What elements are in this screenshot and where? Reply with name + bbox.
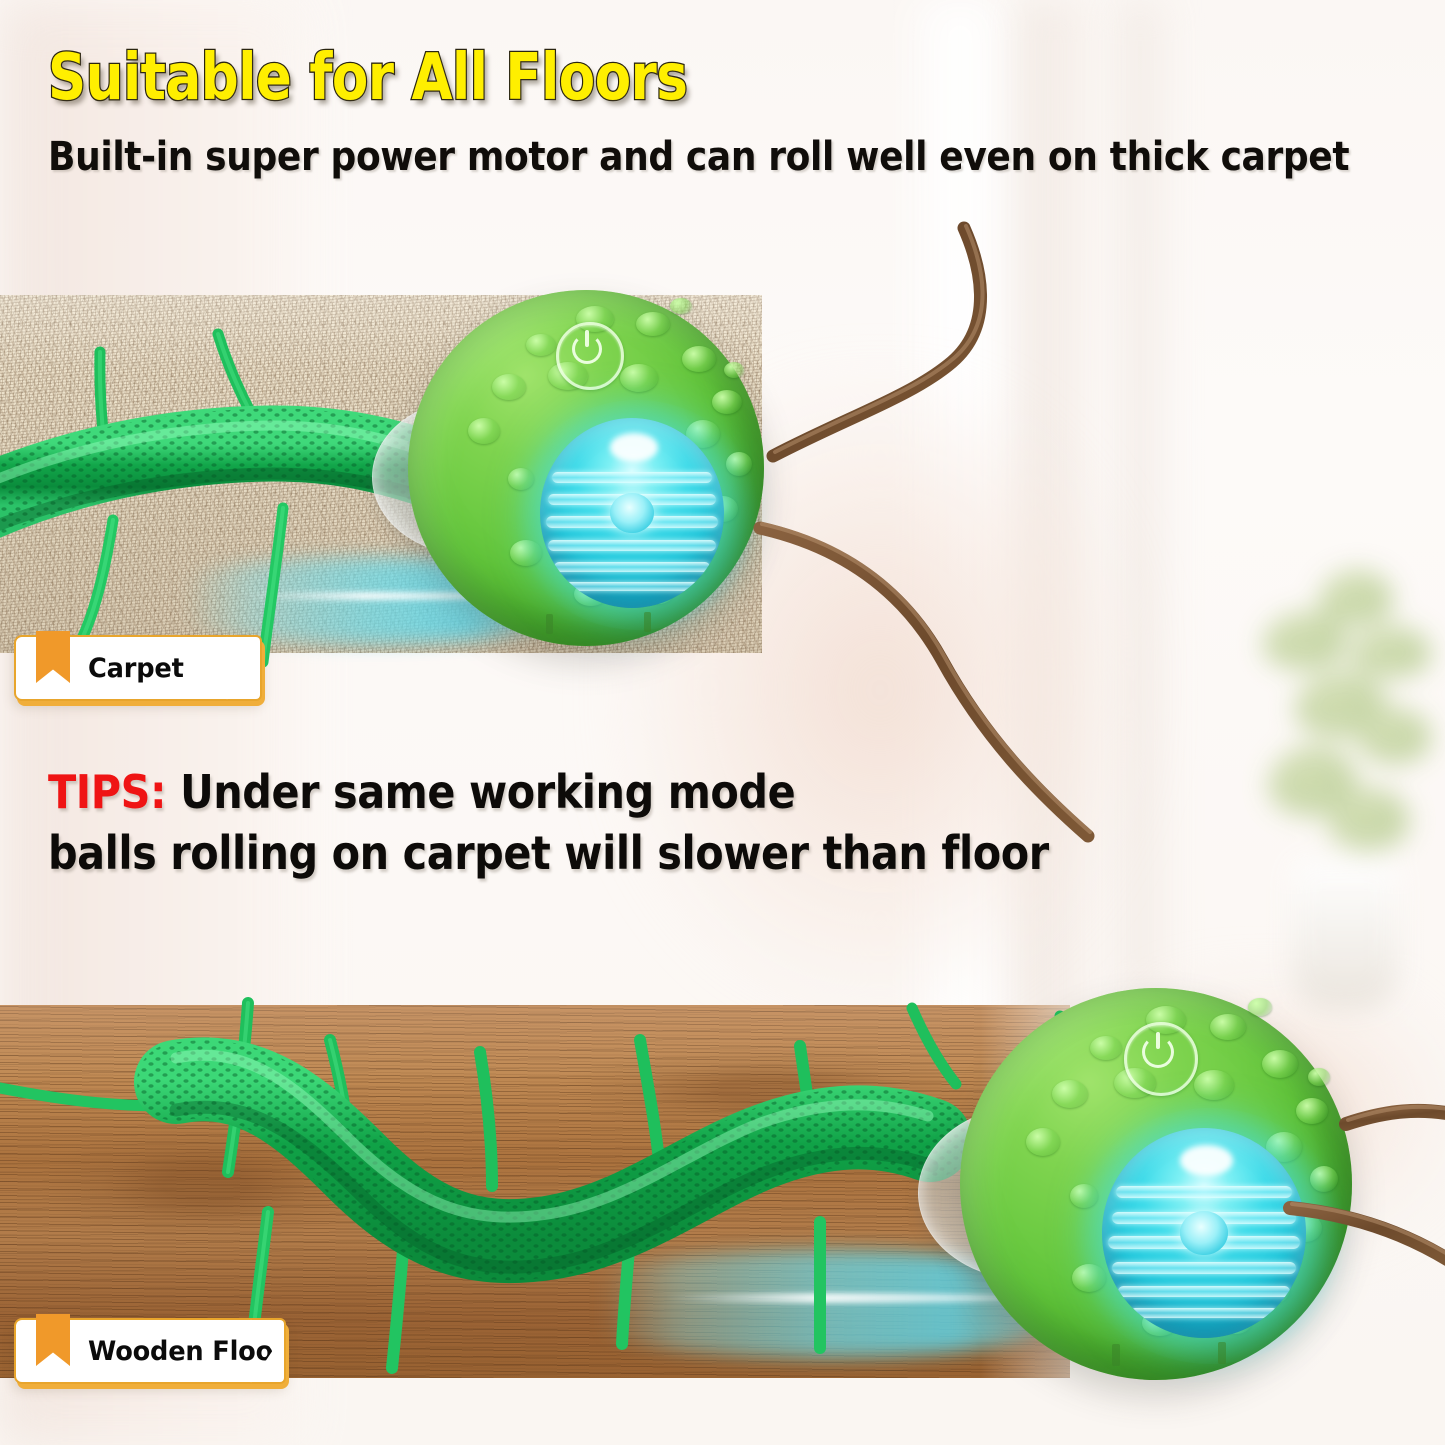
infographic-canvas: Suitable for All Floors Built-in super p… — [0, 0, 1445, 1445]
ribbon-label-wooden-floor: Wooden Floor — [88, 1336, 286, 1367]
wire-antennae-wood — [0, 0, 1445, 1445]
label-ribbon-wooden-floor: Wooden Floor — [14, 1318, 286, 1384]
bookmark-icon — [36, 1314, 70, 1366]
